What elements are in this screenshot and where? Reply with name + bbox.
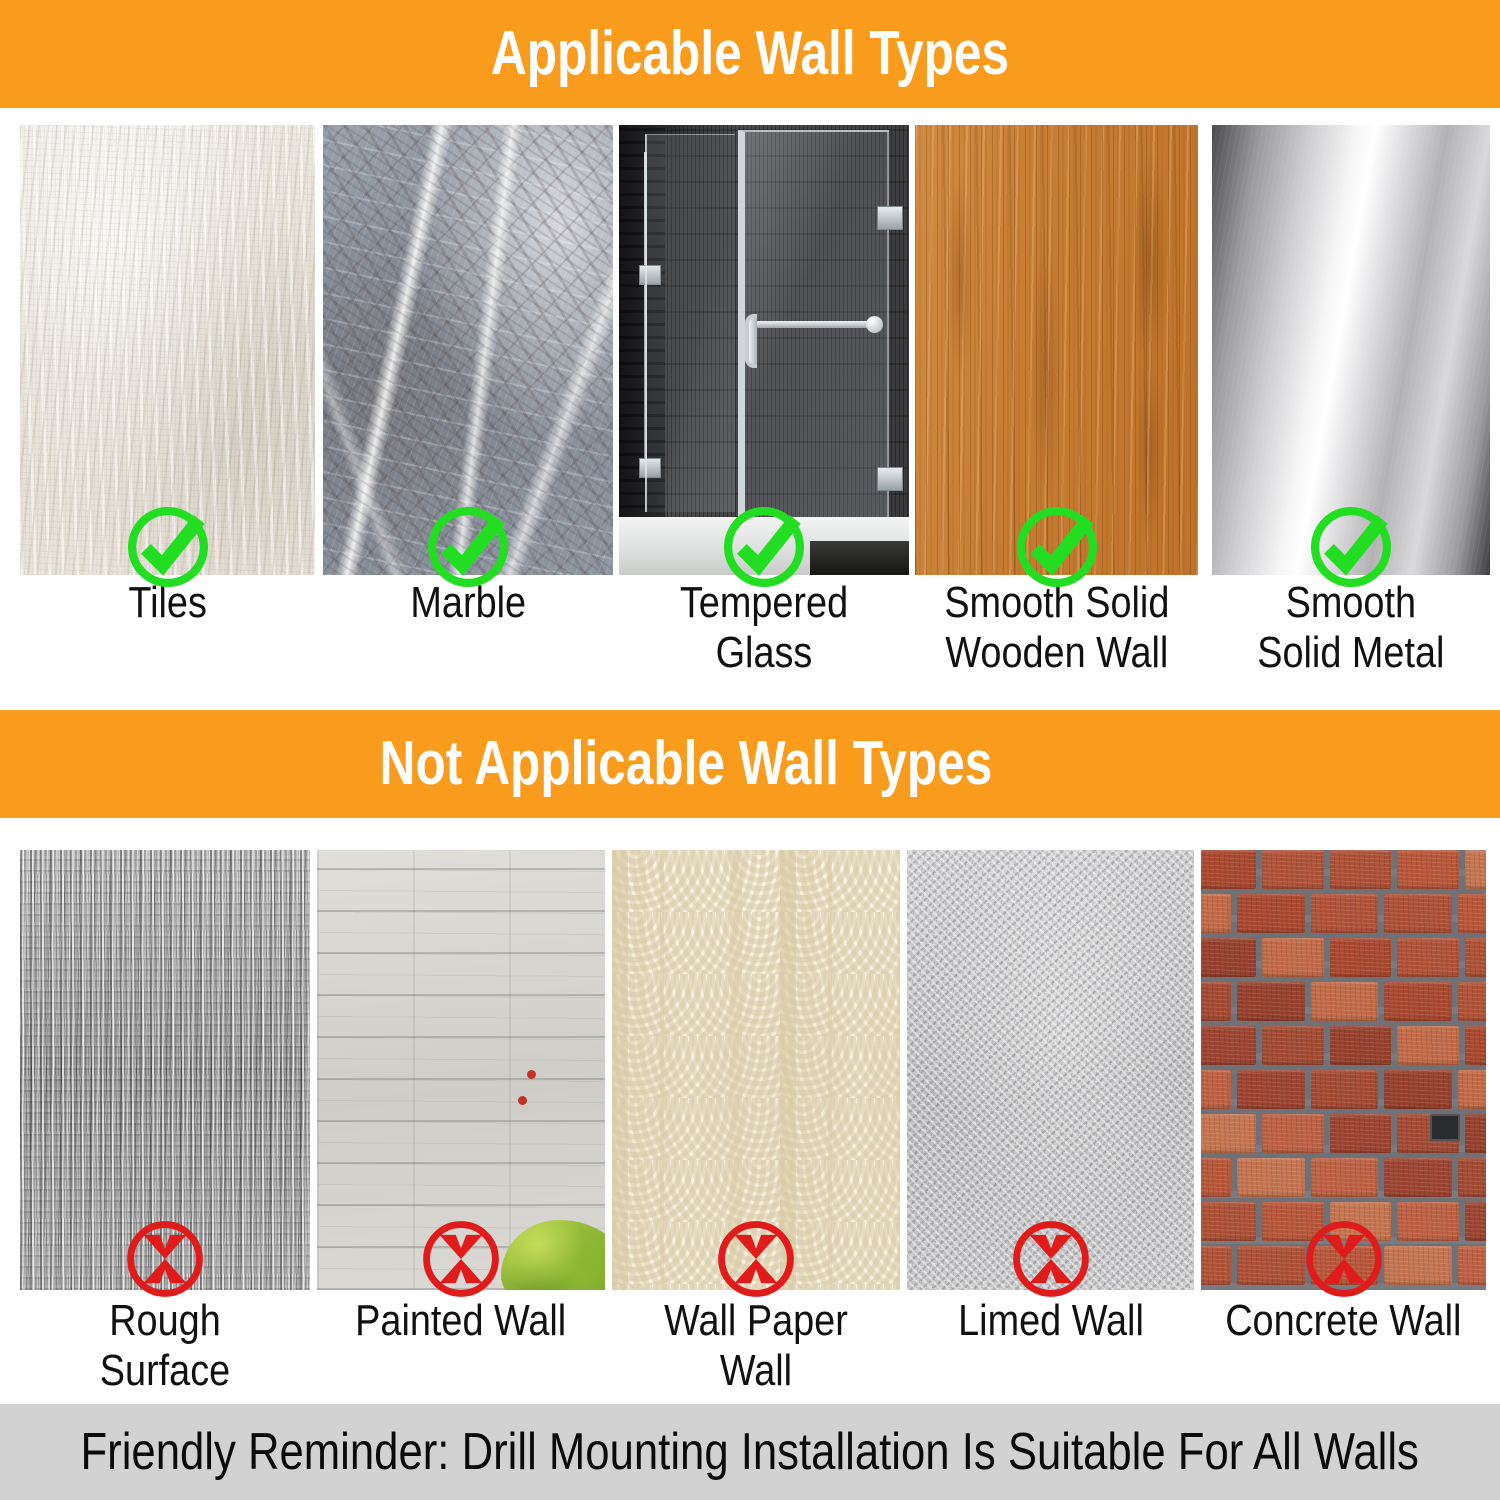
green-check-circle-icon	[122, 501, 214, 593]
not-applicable-section-title: Not Applicable Wall Types	[150, 733, 1350, 795]
shrub-decoration	[501, 1220, 605, 1290]
wall-card-marble[interactable]	[323, 125, 613, 575]
wall-label-tiles: Tiles	[20, 578, 315, 698]
wall-label-wallpaper: Wall Paper Wall	[612, 1296, 900, 1386]
infographic-page: Applicable Wall Types	[0, 0, 1500, 1500]
not-applicable-section-banner: Not Applicable Wall Types	[0, 710, 1500, 818]
wall-label-limed-wall: Limed Wall	[907, 1296, 1194, 1386]
wall-label-rough-surface: Rough Surface	[20, 1296, 310, 1386]
wall-card-wallpaper[interactable]	[612, 850, 900, 1290]
friendly-reminder-text: Friendly Reminder: Drill Mounting Instal…	[81, 1424, 1419, 1480]
wall-label-tempered-glass: Tempered Glass	[619, 578, 909, 698]
applicable-section-title: Applicable Wall Types	[150, 23, 1350, 85]
wall-label-metal: Smooth Solid Metal	[1212, 578, 1490, 698]
wall-label-painted-wall: Painted Wall	[317, 1296, 605, 1386]
wall-card-painted-wall[interactable]	[317, 850, 605, 1290]
green-check-circle-icon	[1305, 501, 1397, 593]
green-check-circle-icon	[718, 501, 810, 593]
brick-plaque-icon	[1430, 1114, 1460, 1141]
applicable-wall-gallery	[0, 125, 1500, 575]
green-check-circle-icon	[1011, 501, 1103, 593]
wall-label-marble: Marble	[323, 578, 613, 698]
wall-card-concrete-wall[interactable]	[1201, 850, 1486, 1290]
applicable-section-banner: Applicable Wall Types	[0, 0, 1500, 108]
green-check-circle-icon	[422, 501, 514, 593]
red-cross-circle-icon	[418, 1216, 504, 1302]
not-applicable-label-strip: Rough Surface Painted Wall Wall Paper Wa…	[0, 1296, 1500, 1386]
wall-label-concrete-wall: Concrete Wall	[1201, 1296, 1486, 1386]
not-applicable-wall-gallery	[0, 850, 1500, 1290]
red-cross-circle-icon	[1008, 1216, 1094, 1302]
wall-card-limed-wall[interactable]	[907, 850, 1194, 1290]
wall-label-wooden: Smooth Solid Wooden Wall	[915, 578, 1198, 698]
wall-card-wooden[interactable]	[915, 125, 1198, 575]
friendly-reminder-bar: Friendly Reminder: Drill Mounting Instal…	[0, 1404, 1500, 1500]
wall-card-tempered-glass[interactable]	[619, 125, 909, 575]
red-cross-circle-icon	[122, 1216, 208, 1302]
applicable-label-strip: Tiles Marble Tempered Glass Smooth Solid…	[0, 578, 1500, 698]
wall-card-metal[interactable]	[1212, 125, 1490, 575]
wall-card-rough-surface[interactable]	[20, 850, 310, 1290]
red-cross-circle-icon	[713, 1216, 799, 1302]
wall-card-tiles[interactable]	[20, 125, 315, 575]
red-cross-circle-icon	[1301, 1216, 1387, 1302]
